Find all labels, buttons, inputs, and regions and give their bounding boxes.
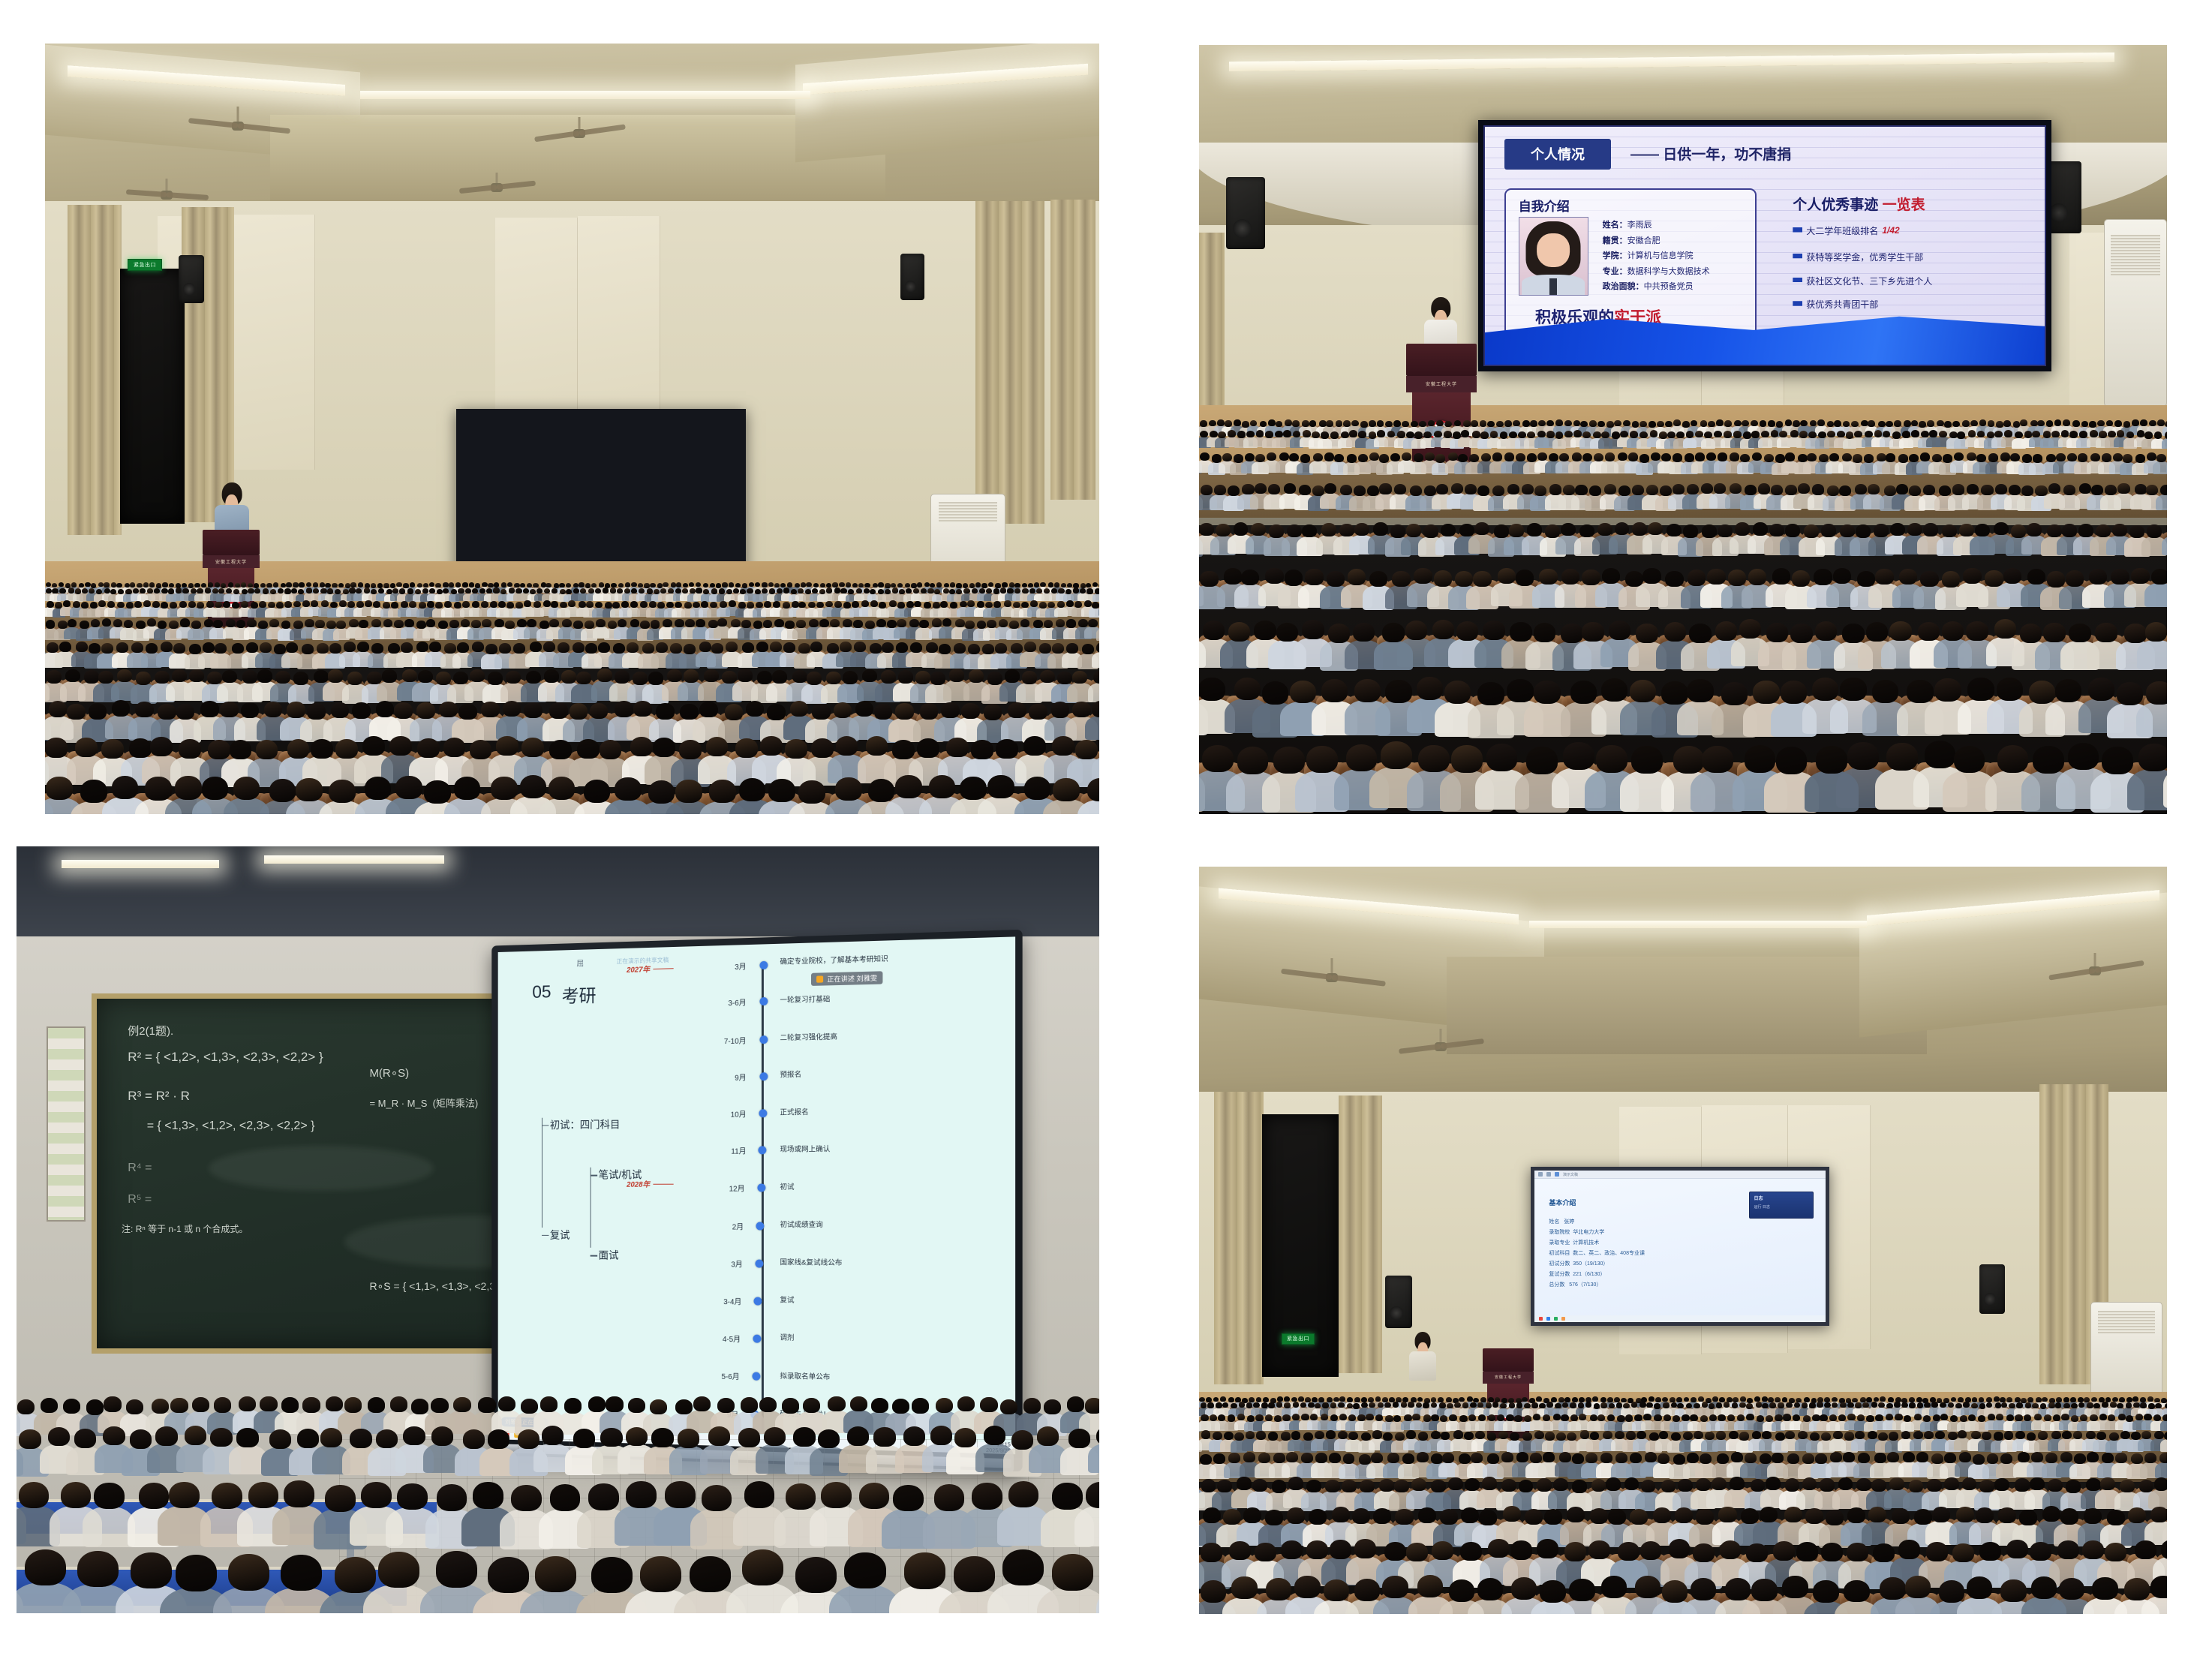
audience-member-head [339, 600, 347, 607]
audience-member-head [956, 589, 962, 594]
toolbar-icon-1[interactable] [1538, 1172, 1543, 1177]
podium-top-br [1483, 1348, 1534, 1372]
audience-member-head [494, 619, 504, 627]
audience-member-head [1818, 431, 1826, 438]
audience-member-head [1057, 601, 1065, 608]
audience-member-head [933, 602, 940, 609]
audience-member-head [972, 1483, 1002, 1510]
audience-member-head [2015, 431, 2023, 438]
audience-member-head [1249, 1397, 1255, 1402]
flag-icon-2 [1793, 278, 1802, 284]
audience-member-head [514, 583, 519, 588]
audience-member-head [984, 704, 1002, 720]
audience-member-head [1779, 431, 1787, 437]
audience-member-head [891, 583, 896, 588]
students-bl [17, 1372, 1099, 1613]
audience-member-head [1302, 420, 1309, 427]
audience-member-head [98, 582, 104, 587]
audience-member-head [1615, 522, 1630, 535]
audience-member-head [1582, 622, 1604, 642]
audience-member-head [710, 602, 717, 609]
curtain-left [68, 205, 122, 535]
audience-member-body [2136, 702, 2167, 738]
audience-member-head [785, 739, 807, 759]
audience-member-head [1039, 602, 1047, 609]
audience-member-head [725, 704, 744, 720]
audience-member-head [1053, 778, 1079, 801]
audience-member-head [215, 582, 220, 587]
tree-node-first-exam: 初试：四门科目 [550, 1117, 621, 1132]
audience-member-head [284, 601, 292, 608]
audience-member-head [435, 602, 443, 609]
audience-member-head [1819, 454, 1829, 462]
audience-member-head [1436, 484, 1448, 494]
audience-member-head [783, 642, 795, 653]
audience-member-head [836, 736, 858, 756]
audience-member-head [1682, 421, 1690, 428]
audience-member-head [2047, 524, 2062, 537]
audience-member-head [853, 620, 863, 628]
audience-member-head [1228, 430, 1236, 437]
audience-member-head [1472, 431, 1480, 437]
audience-member-head [1639, 454, 1649, 462]
audience-member-head [1988, 420, 1995, 427]
audience-member-head [1461, 430, 1469, 437]
audience-member-head [1040, 582, 1045, 587]
audience-member-head [200, 701, 219, 717]
audience-member-head [155, 1426, 177, 1446]
audience-member-head [630, 601, 638, 608]
audience-member-head [790, 701, 809, 717]
audience-member-head [1406, 524, 1421, 536]
audience-member-head [503, 701, 521, 717]
audience-member-head [656, 642, 668, 653]
audience-member-head [246, 642, 258, 653]
audience-member-head [2097, 420, 2105, 427]
audience-member-head [2123, 421, 2131, 428]
audience-member-head [559, 583, 564, 588]
audience-member-head [46, 620, 56, 628]
audience-member-head [1009, 621, 1019, 629]
audience-member-head [275, 671, 290, 684]
audience-member-head [892, 1399, 909, 1414]
audience-member-head [1023, 736, 1046, 756]
audience-member-head [2095, 623, 2117, 642]
audience-member-head [982, 644, 994, 654]
audience-member-head [1614, 420, 1621, 427]
audience-member-head [1276, 623, 1299, 642]
audience-member-head [1994, 522, 2009, 535]
audience-member-head [1044, 620, 1053, 628]
audience-member-head [977, 601, 984, 608]
audience-member-head [783, 588, 789, 593]
audience-member-head [1201, 485, 1213, 495]
audience-member-head [220, 702, 239, 718]
audience-member-head [2151, 569, 2167, 585]
audience-member-head [1507, 679, 1533, 702]
audience-member-head [46, 777, 72, 800]
audience-member-head [343, 589, 349, 594]
flag-icon-3 [1793, 301, 1802, 308]
audience-member-head [2032, 431, 2040, 437]
slide-log-dialog[interactable]: 日志 运行 日志 [1749, 1192, 1814, 1219]
audience-member-head [1872, 680, 1898, 703]
audience-member-head [1968, 430, 1976, 437]
chalk-mid-0: M(R∘S) [369, 1065, 409, 1083]
taskbar-icon-c[interactable] [1554, 1317, 1558, 1321]
audience-member-head [1790, 624, 1813, 643]
audience-member-head [485, 644, 497, 654]
slide-personal-profile: 个人情况 —— 日供一年，功不唐捐 自我介绍 姓名：李雨辰 籍贯：安徽合肥 学院 [1483, 125, 2046, 366]
audience-member-head [1245, 453, 1255, 461]
audience-member-head [573, 583, 579, 588]
audience-member-head [873, 583, 878, 588]
audience-member-head [786, 1483, 816, 1510]
audience-member-head [649, 601, 657, 608]
audience-member-head [1853, 454, 1862, 462]
audience-member-head [1305, 569, 1323, 585]
audience-member-head [85, 582, 90, 587]
audience-member-head [915, 671, 930, 684]
audience-member-head [332, 583, 337, 588]
audience-member-head [326, 621, 336, 629]
audience-member-head [741, 1397, 758, 1412]
strip-light-mid [360, 91, 810, 99]
audience-member-head [364, 588, 370, 593]
audience-member-head [328, 669, 343, 683]
audience-member-head [192, 1397, 209, 1412]
audience-member-head [956, 583, 961, 588]
audience-member-head [876, 619, 886, 627]
slide-bottom-taskbar[interactable] [1534, 1315, 1826, 1322]
audience-member-head [152, 601, 160, 608]
audience-member-head [463, 1429, 485, 1449]
audience-member-head [2138, 744, 2167, 771]
audience-member-head [513, 643, 525, 654]
audience-member-head [1098, 583, 1099, 588]
audience-member-head [273, 582, 278, 587]
timeline-dot-6 [757, 1184, 765, 1192]
taskbar-icon-b[interactable] [1546, 1317, 1550, 1321]
audience-member-head [960, 601, 967, 608]
toolbar-icon-3[interactable] [1555, 1172, 1559, 1177]
slide-heading-br: 基本介绍 [1549, 1198, 1576, 1207]
audience-member-head [1084, 600, 1092, 607]
audience-member-head [172, 669, 187, 683]
audience-member-head [389, 736, 412, 756]
audience-member-head [228, 582, 233, 587]
audience-member-head [149, 582, 155, 587]
audience-member-head [286, 642, 298, 653]
audience-member-head [1609, 621, 1631, 640]
audience-member-head [1210, 431, 1218, 437]
audience-member-head [221, 583, 226, 588]
ceiling-fan-br-3 [2093, 953, 2096, 971]
audience-member-head [711, 588, 717, 594]
audience-member-head [2160, 485, 2167, 495]
audience-member-head [1397, 431, 1405, 437]
audience-member-head [399, 588, 405, 594]
audience-member-head [1441, 524, 1456, 536]
audience-member-head [359, 620, 368, 628]
audience-member-head [678, 1429, 699, 1448]
audience-member-head [811, 738, 834, 758]
taskbar-icon-a[interactable] [1539, 1317, 1543, 1321]
doorway-left [120, 269, 185, 524]
audience-member-head [1265, 568, 1283, 584]
curtain-right [975, 201, 1044, 524]
audience-member-head [870, 589, 876, 594]
audience-member-head [1661, 681, 1688, 705]
audience-member-head [625, 582, 630, 587]
audience-member-head [897, 602, 905, 609]
audience-member-head [904, 1552, 945, 1588]
audience-member-head [995, 643, 1007, 654]
audience-member-head [281, 583, 286, 588]
audience-member-head [1002, 1549, 1044, 1585]
audience-member-head [89, 588, 95, 594]
audience-member-head [394, 702, 413, 719]
audience-member-head [816, 602, 824, 609]
audience-member-head [518, 1429, 539, 1449]
audience-member-head [1549, 484, 1561, 494]
audience-member-head [417, 738, 440, 758]
audience-member-head [1864, 454, 1874, 462]
audience-member-head [1086, 588, 1092, 594]
audience-member-head [757, 671, 772, 684]
audience-member-head [214, 1397, 231, 1412]
audience-member-head [1327, 571, 1345, 587]
audience-member-body [2144, 583, 2167, 607]
audience-member-head [2146, 681, 2167, 705]
audience-member-head [284, 588, 290, 594]
strip-light-br-3 [1529, 921, 1867, 928]
audience-member-head [367, 672, 382, 685]
audience-member-head [1776, 747, 1808, 774]
audience-member-head [111, 582, 116, 587]
audience-member-head [1480, 1397, 1486, 1402]
audience-member-head [1324, 483, 1336, 494]
audience-member-head [1715, 621, 1738, 641]
audience-member-head [810, 642, 822, 652]
audience-member-head [965, 621, 975, 629]
audience-member-head [1039, 643, 1051, 654]
audience-member-head [1033, 620, 1043, 628]
audience-member-head [1285, 419, 1292, 426]
taskbar-icon-d[interactable] [1561, 1317, 1565, 1321]
audience-member-head [1214, 485, 1226, 495]
chalk-left-5: R⁵ = [128, 1191, 152, 1209]
audience-member-head [1632, 522, 1647, 535]
audience-member-head [1312, 1397, 1318, 1402]
audience-member-head [588, 1483, 619, 1510]
audience-member-head [2117, 430, 2125, 437]
audience-member-head [801, 582, 806, 587]
audience-member-head [521, 1399, 538, 1414]
audience-member-head [2154, 431, 2162, 438]
audience-member-head [382, 669, 397, 683]
audience-member-head [1444, 681, 1471, 704]
audience-member-head [586, 601, 594, 608]
audience-member-head [676, 582, 681, 587]
audience-member-head [648, 780, 675, 804]
audience-member-head [540, 1396, 558, 1411]
audience-member-head [720, 601, 727, 608]
audience-member-head [278, 588, 284, 594]
timeline-dot-7 [756, 1222, 765, 1230]
audience-member-head [1792, 570, 1810, 586]
audience-member-head [527, 619, 536, 627]
audience-member-head [2004, 430, 2012, 437]
audience-member-head [1498, 568, 1516, 584]
audience-member-head [458, 588, 464, 594]
audience-member-head [470, 669, 485, 683]
audience-member-head [2079, 431, 2087, 437]
panel-bottom-left: 例2(1题). R² = { <1,2>, <1,3>, <2,3>, <2,2… [17, 846, 1099, 1613]
tree-sub-trunk [591, 1168, 591, 1248]
audience-member-head [373, 601, 380, 608]
audience-member-head [390, 583, 395, 588]
audience-member-head [932, 618, 942, 627]
audience-member-head [236, 1428, 258, 1447]
audience-member-head [628, 1398, 645, 1413]
audience-member-head [1985, 570, 2003, 586]
audience-member-head [1632, 421, 1639, 428]
audience-member-head [675, 619, 684, 627]
audience-member-head [1480, 431, 1489, 438]
audience-member-head [1687, 679, 1713, 702]
audience-member-head [383, 602, 390, 609]
audience-member-head [1483, 621, 1505, 640]
audience-member-head [1855, 484, 1867, 494]
audience-member-head [1827, 485, 1839, 496]
audience-member-head [2146, 485, 2158, 495]
audience-member-head [299, 582, 304, 587]
audience-member-head [481, 702, 500, 718]
timeline-event-3: 预报名 [780, 1068, 801, 1079]
audience-member-head [892, 588, 898, 593]
audience-member-head [1704, 431, 1712, 438]
audience-member-head [102, 618, 112, 627]
audience-member-head [1353, 623, 1375, 642]
audience-member-head [957, 1396, 975, 1411]
audience-member-head [1630, 680, 1656, 703]
chalk-left-6: 注: Rⁿ 等于 n-1 或 n 个合成式。 [122, 1222, 248, 1236]
audience-member-head [2099, 431, 2107, 437]
audience-member-head [1203, 621, 1225, 640]
strip-light-bl-2 [264, 855, 444, 864]
audience-member-head [1313, 453, 1323, 461]
audience-member-head [1596, 745, 1627, 772]
audience-member-head [960, 777, 986, 800]
audience-member-head [955, 619, 965, 627]
audience-member-head [1538, 420, 1546, 427]
audience-member-head [110, 589, 116, 594]
audience-member-head [1575, 485, 1587, 495]
audience-member-head [427, 601, 434, 608]
audience-member-head [378, 588, 384, 594]
curtain-br-left-2 [1339, 1095, 1382, 1373]
audience-member-head [762, 582, 767, 587]
audience-member-head [1534, 681, 1560, 704]
audience-member-head [545, 583, 551, 588]
audience-member-head [1234, 419, 1241, 426]
audience-member-head [746, 701, 765, 717]
audience-member-head [126, 1399, 143, 1414]
audience-member-head [1716, 419, 1724, 426]
audience-member-head [549, 619, 559, 627]
audience-member-head [47, 642, 59, 653]
audience-member-head [1817, 419, 1825, 426]
timeline-event-1: 一轮复习打基础 [780, 993, 830, 1005]
audience-member-head [1962, 420, 1970, 427]
profile-photo [1519, 217, 1588, 296]
audience-member-head [1695, 452, 1705, 461]
audience-member-head [1976, 454, 1986, 462]
timeline-event-6: 初试 [780, 1181, 794, 1192]
audience-member-head [268, 602, 275, 609]
audience-member-head [2010, 453, 2020, 461]
audience-member-head [1487, 421, 1495, 428]
audience-member-head [169, 583, 174, 588]
audience-member-head [1358, 454, 1368, 462]
audience-member-head [848, 589, 854, 594]
ceiling-fan-4 [495, 173, 498, 188]
audience-member-head [2147, 452, 2156, 461]
audience-member-head [1068, 1429, 1090, 1448]
audience-member-head [768, 779, 795, 802]
audience-member-head [1733, 431, 1742, 437]
audience-member-head [126, 602, 134, 609]
audience-member-head [65, 669, 80, 683]
audience-member-head [1570, 681, 1597, 704]
audience-member-head [755, 589, 761, 594]
audience-member-head [82, 588, 88, 594]
audience-member-head [1354, 1397, 1360, 1402]
audience-member-head [1979, 419, 1987, 426]
audience-member-head [1932, 454, 1942, 462]
audience-member-head [1348, 569, 1366, 585]
audience-member-head [2069, 431, 2078, 437]
audience-member-head [530, 642, 542, 652]
audience-member-head [1225, 420, 1232, 427]
audience-member-head [600, 1428, 622, 1447]
audience-member-head [796, 620, 806, 628]
audience-member-head [1944, 421, 1952, 428]
audience-member-head [544, 669, 559, 683]
audience-member-head [1628, 452, 1638, 461]
audience-member-head [999, 619, 1008, 627]
audience-member-head [350, 582, 356, 587]
audience-member-head [320, 582, 325, 587]
wall-panel-b [233, 215, 315, 470]
audience-member-head [215, 643, 227, 654]
audience-member-head [1673, 419, 1681, 426]
audience-member-head [1874, 524, 1889, 536]
audience-member-head [759, 1397, 777, 1412]
audience-member-head [424, 780, 450, 804]
audience-member-head [1714, 483, 1726, 494]
audience-member-head [390, 1396, 407, 1411]
audience-member-head [349, 588, 355, 593]
audience-member-head [270, 589, 276, 594]
audience-member-head [1022, 671, 1037, 684]
audience-member-head [780, 583, 786, 588]
audience-member-head [738, 602, 746, 609]
slide-app-toolbar[interactable]: 演示文稿 [1534, 1171, 1826, 1179]
toolbar-icon-2[interactable] [1546, 1172, 1551, 1177]
audience-member-head [1745, 485, 1757, 495]
